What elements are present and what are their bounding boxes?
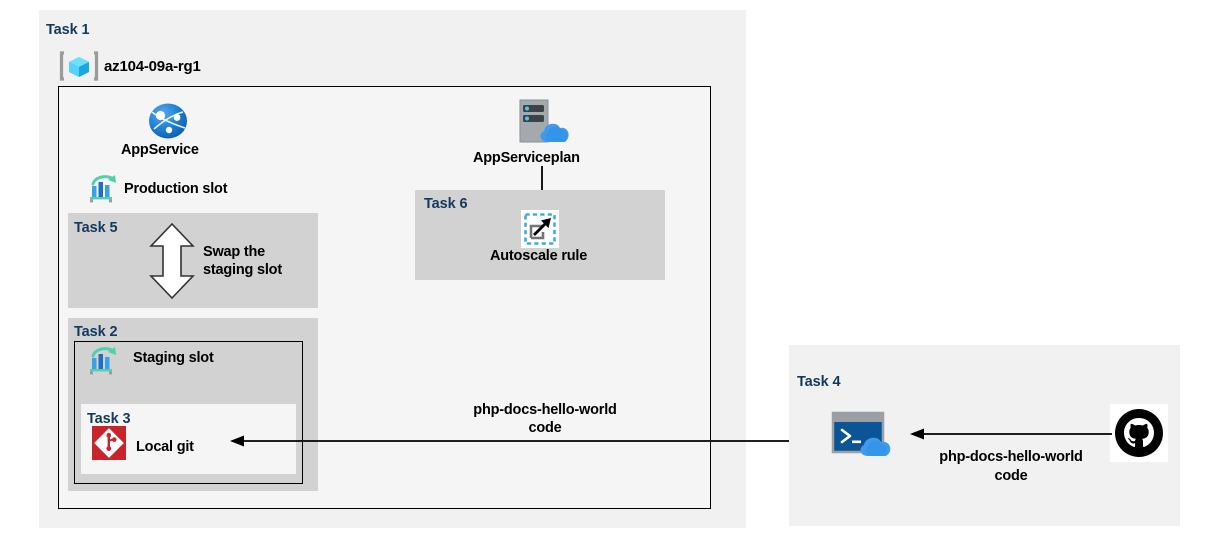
diagram-canvas: Task 1 az104-09a-rg1 (0, 0, 1218, 545)
edge-github-to-shell-label-line1: php-docs-hello-world (913, 448, 1109, 466)
autoscale-rule-label: Autoscale rule (490, 248, 587, 264)
task1-label: Task 1 (46, 22, 89, 38)
deployment-slot-icon-staging (88, 346, 120, 376)
edge-github-to-shell-label-line2: code (913, 467, 1109, 485)
task5-label: Task 5 (74, 220, 117, 236)
app-service-plan-icon (512, 96, 574, 148)
edge-shell-to-localgit-label-line1: php-docs-hello-world (445, 401, 645, 419)
task2-label: Task 2 (74, 324, 117, 340)
edge-shell-to-localgit (228, 432, 828, 450)
local-git-label: Local git (136, 439, 194, 455)
task3-label: Task 3 (87, 411, 130, 427)
github-icon (1110, 404, 1168, 462)
edge-github-to-shell (908, 425, 1114, 443)
task4-label: Task 4 (797, 374, 840, 390)
staging-slot-label: Staging slot (133, 350, 214, 366)
deployment-slot-icon-production (88, 174, 120, 204)
swap-slot-label-line2: staging slot (203, 261, 323, 279)
app-service-plan-label: AppServiceplan (473, 150, 580, 166)
resource-group-label: az104-09a-rg1 (104, 58, 201, 75)
task6-label: Task 6 (424, 196, 467, 212)
autoscale-rule-icon (521, 210, 559, 248)
cloud-shell-icon (831, 411, 903, 461)
app-service-label: AppService (121, 142, 199, 158)
app-service-globe-icon (146, 101, 190, 141)
git-icon (92, 426, 126, 460)
production-slot-label: Production slot (124, 181, 227, 197)
resource-group-icon (60, 50, 98, 82)
swap-slot-label-line1: Swap the (203, 243, 313, 261)
swap-double-arrow-icon (148, 222, 196, 300)
